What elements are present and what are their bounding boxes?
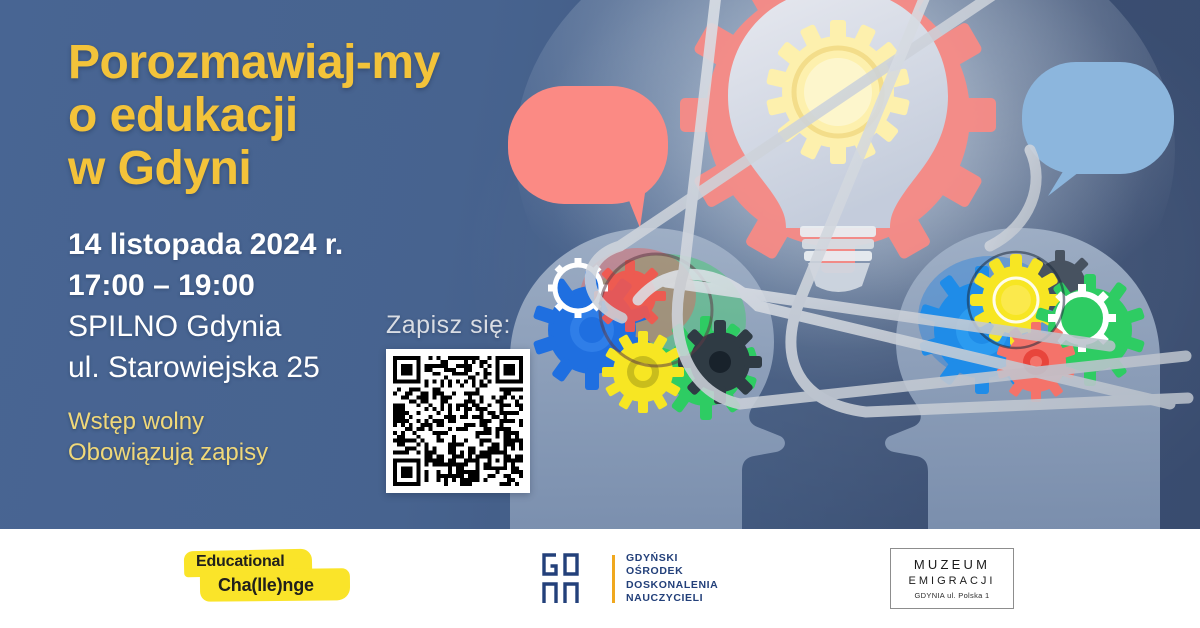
ec-line-1: Educational (196, 553, 284, 571)
qr-code-canvas[interactable] (393, 356, 523, 486)
illustration-svg (470, 0, 1200, 529)
muzeum-line-1: MUZEUM (903, 556, 1001, 573)
godn-monogram-icon (540, 552, 602, 606)
godn-word-4: NAUCZYCIELI (626, 592, 718, 606)
logo-muzeum-emigracji: MUZEUM EMIGRACJI GDYNIA ul. Polska 1 (890, 529, 1070, 628)
logo-godn: GDYŃSKI OŚRODEK DOSKONALENIA NAUCZYCIELI (540, 529, 790, 628)
godn-word-1: GDYŃSKI (626, 552, 718, 566)
footer-logo-bar: Educational Cha(lle)nge GDYŃSKI (0, 529, 1200, 628)
godn-word-3: DOSKONALENIA (626, 579, 718, 593)
qr-code[interactable] (386, 349, 530, 493)
godn-wordmark: GDYŃSKI OŚRODEK DOSKONALENIA NAUCZYCIELI (626, 552, 718, 606)
ec-line-2: Cha(lle)nge (218, 575, 314, 596)
godn-word-2: OŚRODEK (626, 565, 718, 579)
poster-banner: Porozmawiaj-my o edukacji w Gdyni 14 lis… (0, 0, 1200, 529)
illustration (470, 0, 1200, 529)
logo-educational-challenge: Educational Cha(lle)nge (180, 529, 360, 628)
muzeum-line-3: GDYNIA ul. Polska 1 (903, 590, 1001, 602)
event-date: 14 listopada 2024 r. (68, 224, 488, 265)
signup-block: Zapisz się: (386, 311, 530, 493)
title-line-1: Porozmawiaj-my (68, 36, 488, 89)
event-time: 17:00 – 19:00 (68, 265, 488, 306)
muzeum-line-2: EMIGRACJI (903, 573, 1001, 589)
signup-label: Zapisz się: (386, 311, 530, 340)
title-line-3: w Gdyni (68, 142, 488, 195)
page-title: Porozmawiaj-my o edukacji w Gdyni (68, 36, 488, 195)
event-poster: Porozmawiaj-my o edukacji w Gdyni 14 lis… (0, 0, 1200, 628)
godn-divider (612, 555, 615, 603)
title-line-2: o edukacji (68, 89, 488, 142)
